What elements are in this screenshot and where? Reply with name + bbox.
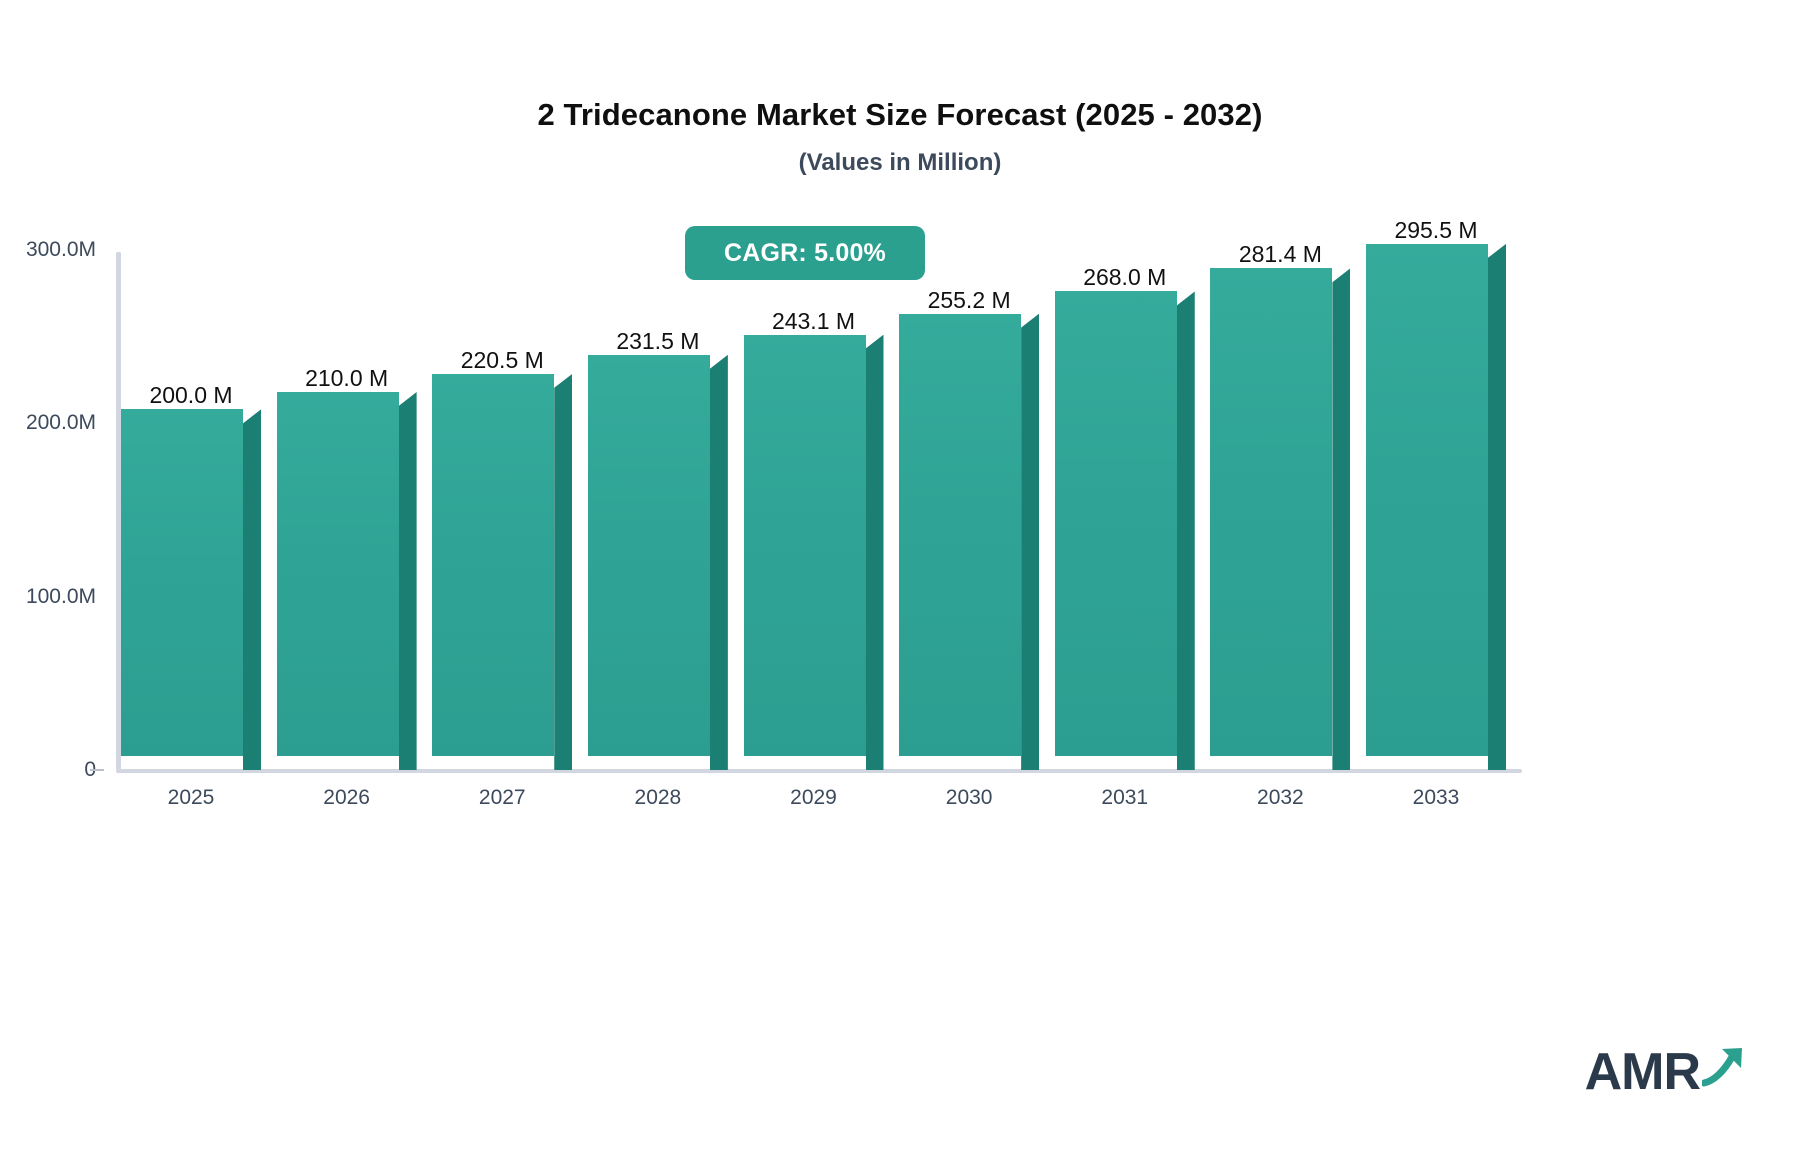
bar-front-face [277,392,399,756]
x-axis-tick: 2028 [588,786,743,810]
bar-item[interactable]: 210.0 M [277,250,432,770]
bar-value-label: 281.4 M [1210,241,1350,268]
bar-shape [432,374,572,770]
x-axis-tick-label: 2027 [432,786,572,810]
x-axis-tick-label: 2025 [121,786,261,810]
bar-item[interactable]: 268.0 M [1055,250,1210,770]
growth-arrow-icon [1702,1045,1748,1092]
bar-value-label: 200.0 M [121,382,261,409]
x-axis-tick: 2027 [432,786,587,810]
x-axis-tick: 2025 [121,786,276,810]
bar-item[interactable]: 281.4 M [1210,250,1365,770]
bar-shape [588,355,728,770]
y-axis-tick-label: 100.0M [0,585,96,609]
bar-front-face [432,374,554,756]
bar-item[interactable]: 200.0 M [121,250,276,770]
bar-value-label: 268.0 M [1055,264,1195,291]
x-axis-tick-label: 2030 [899,786,1039,810]
bar-value-label: 243.1 M [744,308,884,335]
bar-shape [121,409,261,770]
bar-side-face [710,355,728,770]
bar-front-face [744,335,866,756]
bar-side-face [1488,244,1506,770]
x-axis-tick-label: 2032 [1210,786,1350,810]
bar-side-face [1177,291,1195,770]
x-axis-tick-label: 2028 [588,786,728,810]
bar-shape [744,335,884,770]
x-axis-tick-label: 2031 [1055,786,1195,810]
x-axis-ticks: 202520262027202820292030203120322033 [121,786,1521,810]
amr-logo: AMR [1585,1045,1748,1098]
bar-side-face [399,392,417,770]
bar-side-face [1332,268,1350,770]
bar-front-face [1366,244,1488,756]
bar-value-label: 210.0 M [277,365,417,392]
bar-value-label: 231.5 M [588,328,728,355]
cagr-badge: CAGR: 5.00% [685,226,925,280]
x-axis-tick: 2029 [744,786,899,810]
bar-front-face [1210,268,1332,756]
x-axis-tick-label: 2029 [744,786,884,810]
bar-value-label: 255.2 M [899,287,1039,314]
bar-front-face [899,314,1021,756]
bar-shape [277,392,417,770]
bar-item[interactable]: 231.5 M [588,250,743,770]
bar-side-face [866,335,884,770]
cagr-badge-label: CAGR: 5.00% [724,239,886,268]
bar-shape [1366,250,1506,770]
x-axis-tick: 2032 [1210,786,1365,810]
x-axis-tick: 2031 [1055,786,1210,810]
bar-side-face [1021,314,1039,770]
y-axis-tick-label: 0 [0,758,96,782]
x-axis-tick: 2026 [277,786,432,810]
amr-logo-text: AMR [1585,1046,1700,1098]
bar-front-face [121,409,243,756]
y-axis-tick-label: 300.0M [0,238,96,262]
x-axis-tick-label: 2033 [1366,786,1506,810]
bar-side-face [243,409,261,770]
y-axis-zero-mark [90,769,104,771]
bar-item[interactable]: 243.1 M [744,250,899,770]
bar-front-face [1055,291,1177,756]
x-axis-tick: 2033 [1366,786,1521,810]
bar-value-label: 220.5 M [432,347,572,374]
bar-item[interactable]: 295.5 M [1366,250,1521,770]
bar-front-face [588,355,710,756]
bar-shape [1210,268,1350,770]
bar-series: 200.0 M210.0 M220.5 M231.5 M243.1 M255.2… [121,250,1521,770]
bar-shape [899,314,1039,770]
bar-item[interactable]: 255.2 M [899,250,1054,770]
bar-value-label: 295.5 M [1366,217,1506,244]
x-axis-tick-label: 2026 [277,786,417,810]
y-axis-tick-label: 200.0M [0,411,96,435]
x-axis-tick: 2030 [899,786,1054,810]
bar-side-face [554,374,572,770]
bar-item[interactable]: 220.5 M [432,250,587,770]
bar-shape [1055,291,1195,770]
chart-plot-area: 0100.0M200.0M300.0M 200.0 M210.0 M220.5 … [0,0,1800,1156]
